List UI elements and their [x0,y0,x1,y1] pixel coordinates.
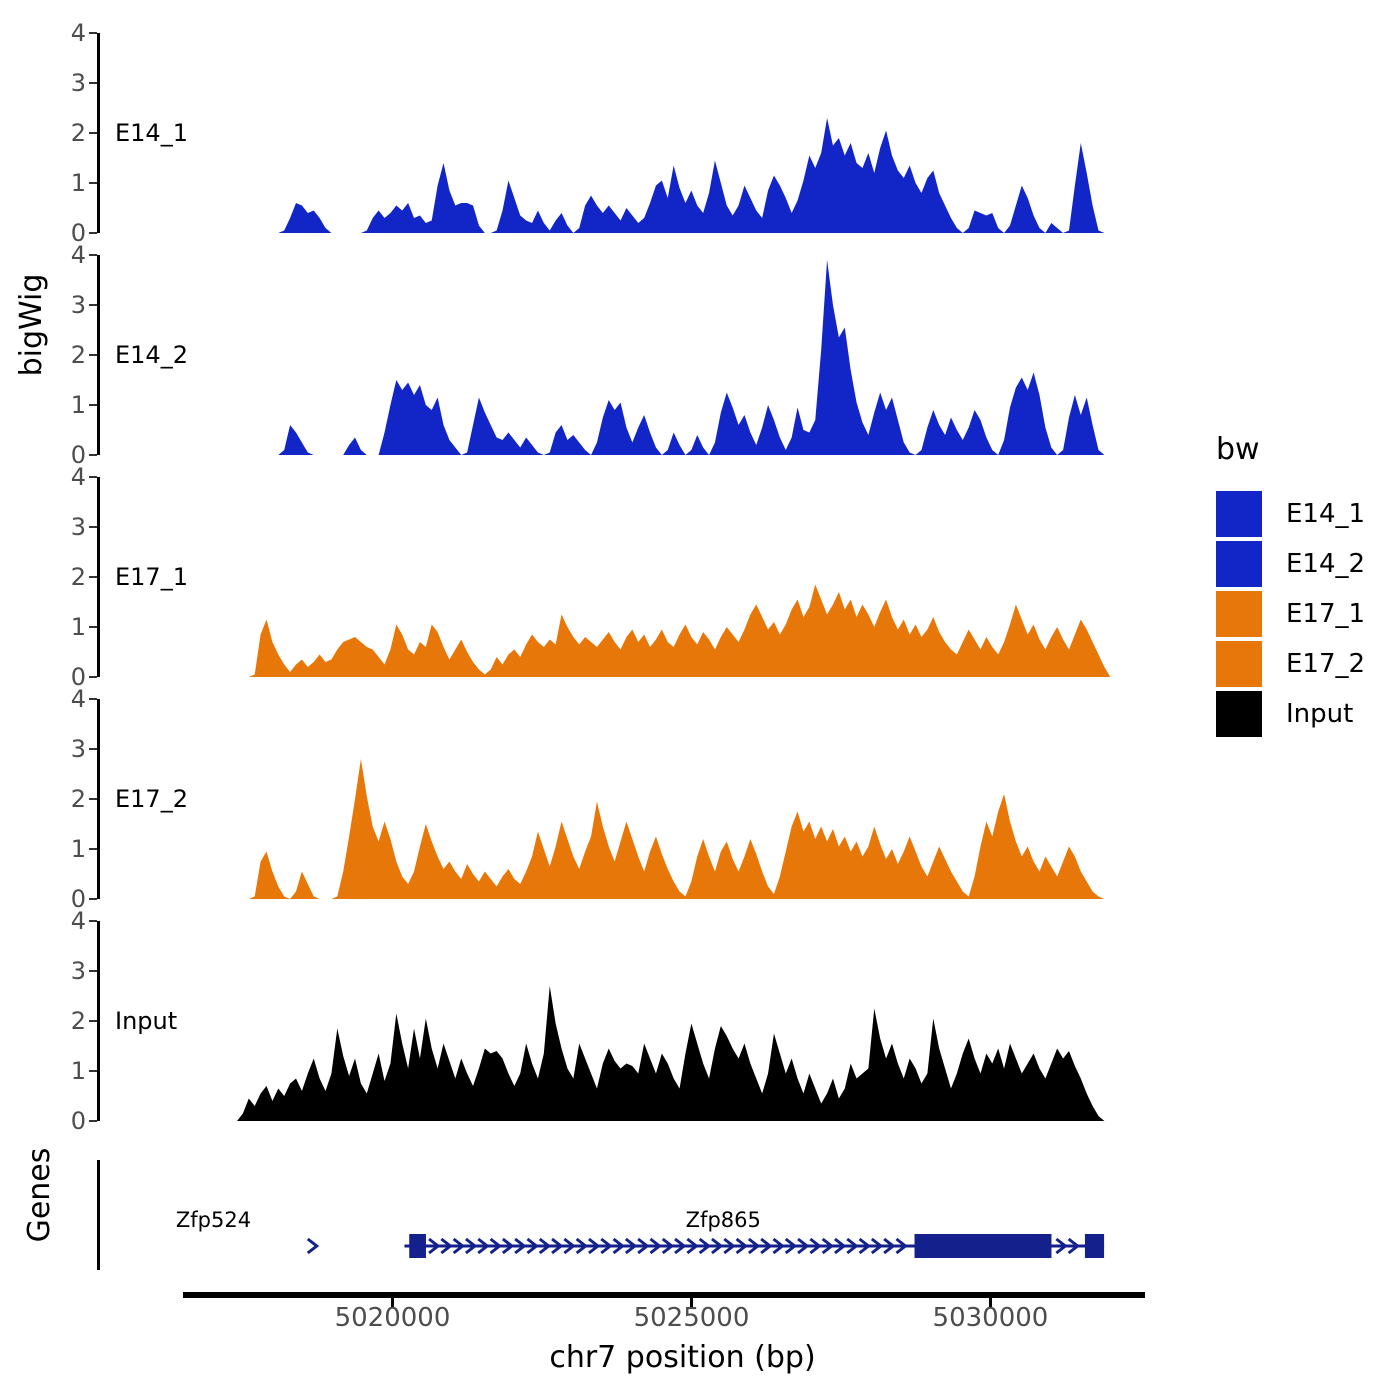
legend-swatch [1216,641,1262,687]
y-tick [89,676,97,678]
x-tick-label: 5025000 [634,1303,750,1333]
track-plot-area [100,33,1131,233]
legend-item-e17_2[interactable]: E17_2 [1216,639,1365,689]
legend-title: bw [1216,432,1365,467]
legend-label: E17_1 [1286,599,1365,629]
y-tick-label: 2 [71,785,86,813]
y-tick [89,848,97,850]
x-axis-title: chr7 position (bp) [237,1340,1128,1375]
y-tick-label: 1 [71,1057,86,1085]
y-tick-label: 1 [71,169,86,197]
legend-item-e17_1[interactable]: E17_1 [1216,589,1365,639]
y-tick [89,1070,97,1072]
track-plot-area [100,477,1131,677]
legend-label: E17_2 [1286,649,1365,679]
track-panel-e14_2: 01234E14_2 [97,255,1131,455]
legend-label: Input [1286,699,1353,729]
y-tick [89,920,97,922]
y-tick-label: 4 [71,907,86,935]
y-tick-label: 4 [71,19,86,47]
y-tick [89,404,97,406]
y-tick-label: 2 [71,1007,86,1035]
y-tick-label: 1 [71,391,86,419]
track-panel-e17_1: 01234E17_1 [97,477,1131,677]
y-tick-label: 4 [71,685,86,713]
gene-label-zfp524: Zfp524 [176,1208,251,1232]
y-tick [89,254,97,256]
y-tick [89,82,97,84]
y-tick-label: 1 [71,613,86,641]
legend-item-e14_2[interactable]: E14_2 [1216,539,1365,589]
y-axis-title: bigWig [14,200,49,450]
y-tick-label: 1 [71,835,86,863]
gene-glyph-zfp524[interactable] [97,1160,1131,1292]
legend-items: E14_1E14_2E17_1E17_2Input [1216,489,1365,739]
legend: bw E14_1E14_2E17_1E17_2Input [1216,432,1365,739]
y-tick-label: 3 [71,69,86,97]
x-axis-line [183,1292,1145,1298]
legend-swatch [1216,491,1262,537]
legend-label: E14_2 [1286,549,1365,579]
y-tick [89,1020,97,1022]
y-tick-label: 2 [71,119,86,147]
track-panel-e14_1: 01234E14_1 [97,33,1131,233]
y-tick [89,626,97,628]
y-tick [89,576,97,578]
legend-swatch [1216,541,1262,587]
y-tick [89,698,97,700]
legend-label: E14_1 [1286,499,1365,529]
y-tick-label: 3 [71,513,86,541]
y-tick [89,526,97,528]
y-tick-label: 4 [71,463,86,491]
track-plot-area [100,921,1131,1121]
legend-item-input[interactable]: Input [1216,689,1365,739]
x-tick-label: 5030000 [933,1303,1049,1333]
y-tick-label: 3 [71,957,86,985]
genes-axis-title: Genes [22,1115,57,1275]
legend-item-e14_1[interactable]: E14_1 [1216,489,1365,539]
y-tick-label: 4 [71,241,86,269]
y-tick [89,354,97,356]
y-tick [89,182,97,184]
x-tick-label: 5020000 [335,1303,451,1333]
gene-label-zfp865: Zfp865 [686,1208,761,1232]
y-tick-label: 3 [71,291,86,319]
y-tick-label: 0 [71,1107,86,1135]
y-tick [89,1120,97,1122]
y-tick [89,32,97,34]
track-panel-input: 01234Input [97,921,1131,1121]
y-tick [89,454,97,456]
gene-glyph-zfp865[interactable] [97,1160,1131,1292]
y-tick [89,132,97,134]
y-tick-label: 3 [71,735,86,763]
y-tick [89,232,97,234]
track-plot-area [100,699,1131,899]
y-tick [89,970,97,972]
y-tick-label: 2 [71,341,86,369]
y-tick [89,748,97,750]
figure-root: bigWig Genes 01234E14_101234E14_201234E1… [0,0,1400,1400]
y-tick [89,304,97,306]
genes-panel: Zfp524Zfp865 [97,1160,1131,1292]
y-tick-label: 2 [71,563,86,591]
legend-swatch [1216,591,1262,637]
genes-axis-line [97,1160,100,1270]
y-tick [89,798,97,800]
y-tick [89,476,97,478]
y-tick [89,898,97,900]
legend-swatch [1216,691,1262,737]
track-panel-e17_2: 01234E17_2 [97,699,1131,899]
track-plot-area [100,255,1131,455]
